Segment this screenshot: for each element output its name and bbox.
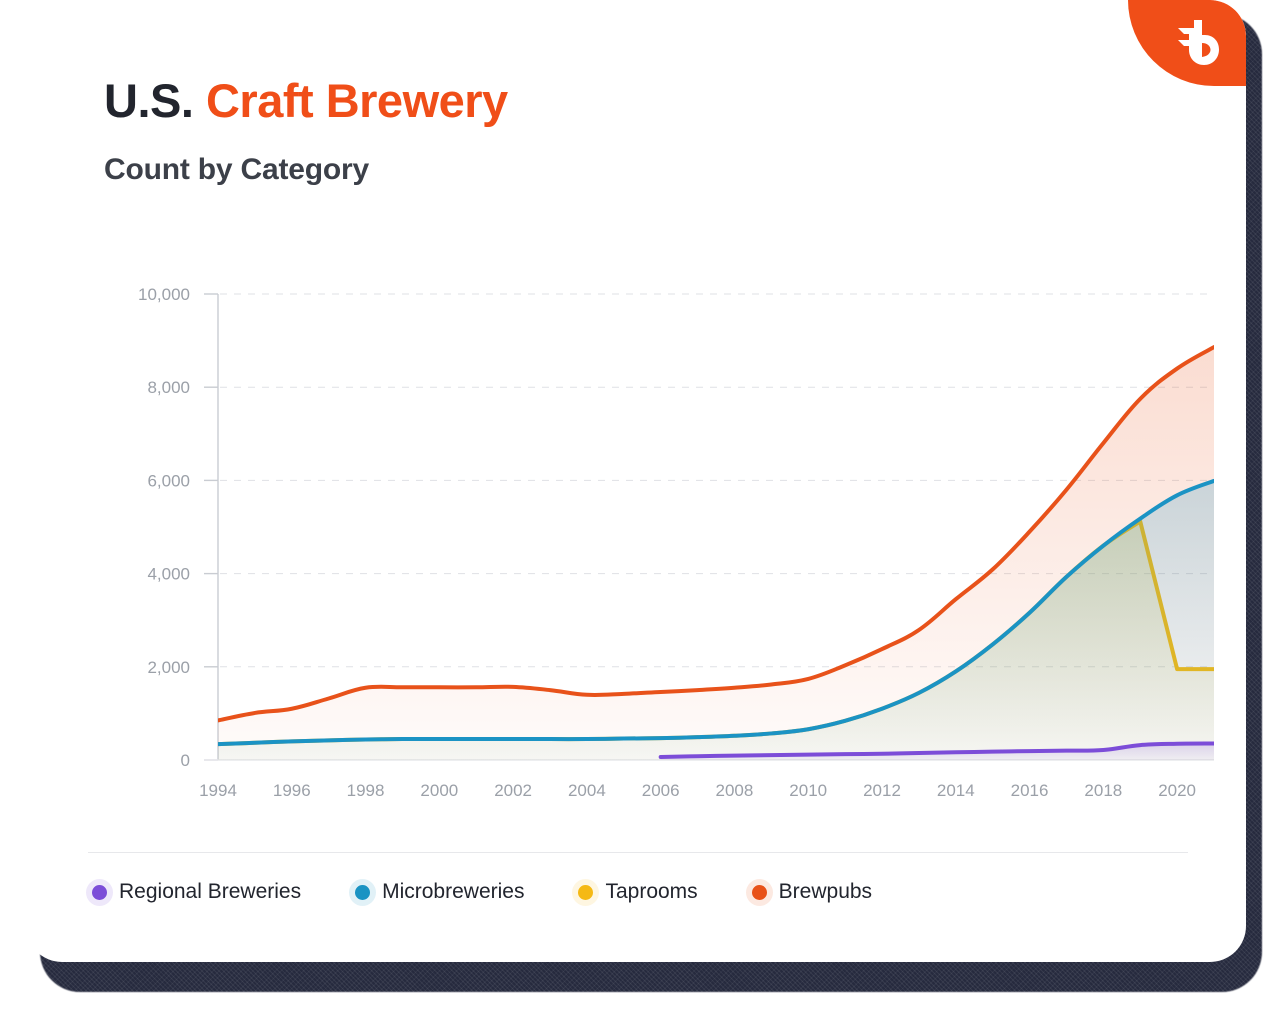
x-axis-label-2006: 2006: [642, 781, 680, 800]
legend-label-brewpubs: Brewpubs: [779, 880, 872, 904]
page-title: U.S. Craft Brewery: [104, 76, 508, 127]
logo-leaf-shape: [1128, 0, 1246, 86]
y-axis-label-10000: 10,000: [138, 285, 190, 304]
chart-plot-container: 02,0004,0006,0008,00010,0001994199619982…: [26, 252, 1246, 822]
page-subtitle: Count by Category: [104, 153, 508, 187]
y-axis-label-4000: 4,000: [147, 565, 190, 584]
y-axis-label-6000: 6,000: [147, 471, 190, 490]
title-prefix: U.S.: [104, 74, 206, 127]
legend-label-regional: Regional Breweries: [119, 880, 301, 904]
x-axis-label-2020: 2020: [1158, 781, 1196, 800]
legend-item-brewpubs[interactable]: Brewpubs: [752, 880, 872, 904]
legend-swatch-taprooms: [578, 885, 593, 900]
chart-card: U.S. Craft Brewery Count by Category 02,…: [26, 0, 1246, 962]
legend-item-regional[interactable]: Regional Breweries: [92, 880, 301, 904]
x-axis-label-2016: 2016: [1011, 781, 1049, 800]
x-axis-labels: 1994199619982000200220042006200820102012…: [199, 781, 1196, 800]
legend-item-micro[interactable]: Microbreweries: [355, 880, 524, 904]
x-axis-label-2010: 2010: [789, 781, 827, 800]
y-axis-label-2000: 2,000: [147, 658, 190, 677]
legend-divider: [88, 852, 1188, 853]
x-axis-label-1998: 1998: [347, 781, 385, 800]
legend-swatch-regional: [92, 885, 107, 900]
card-heading: U.S. Craft Brewery Count by Category: [104, 76, 508, 187]
x-axis-label-1996: 1996: [273, 781, 311, 800]
series-layer: [218, 347, 1214, 760]
x-axis-label-1994: 1994: [199, 781, 237, 800]
legend-item-taprooms[interactable]: Taprooms: [578, 880, 697, 904]
brand-logo-badge: [1128, 0, 1246, 86]
x-axis-label-2018: 2018: [1084, 781, 1122, 800]
x-axis-label-2012: 2012: [863, 781, 901, 800]
x-axis-label-2002: 2002: [494, 781, 532, 800]
x-axis-label-2000: 2000: [420, 781, 458, 800]
screenshot-root: U.S. Craft Brewery Count by Category 02,…: [0, 0, 1280, 1029]
y-axis-label-8000: 8,000: [147, 378, 190, 397]
y-axis-label-0: 0: [181, 751, 190, 770]
area-chart: 02,0004,0006,0008,00010,0001994199619982…: [26, 252, 1246, 822]
x-axis-label-2008: 2008: [716, 781, 754, 800]
x-axis-label-2004: 2004: [568, 781, 606, 800]
x-axis-label-2014: 2014: [937, 781, 975, 800]
legend-label-micro: Microbreweries: [382, 880, 524, 904]
title-accent: Craft Brewery: [206, 74, 508, 127]
b-letter-icon: [1174, 18, 1220, 68]
chart-legend: Regional BreweriesMicrobreweriesTaprooms…: [92, 880, 926, 904]
legend-label-taprooms: Taprooms: [605, 880, 697, 904]
legend-swatch-micro: [355, 885, 370, 900]
legend-swatch-brewpubs: [752, 885, 767, 900]
